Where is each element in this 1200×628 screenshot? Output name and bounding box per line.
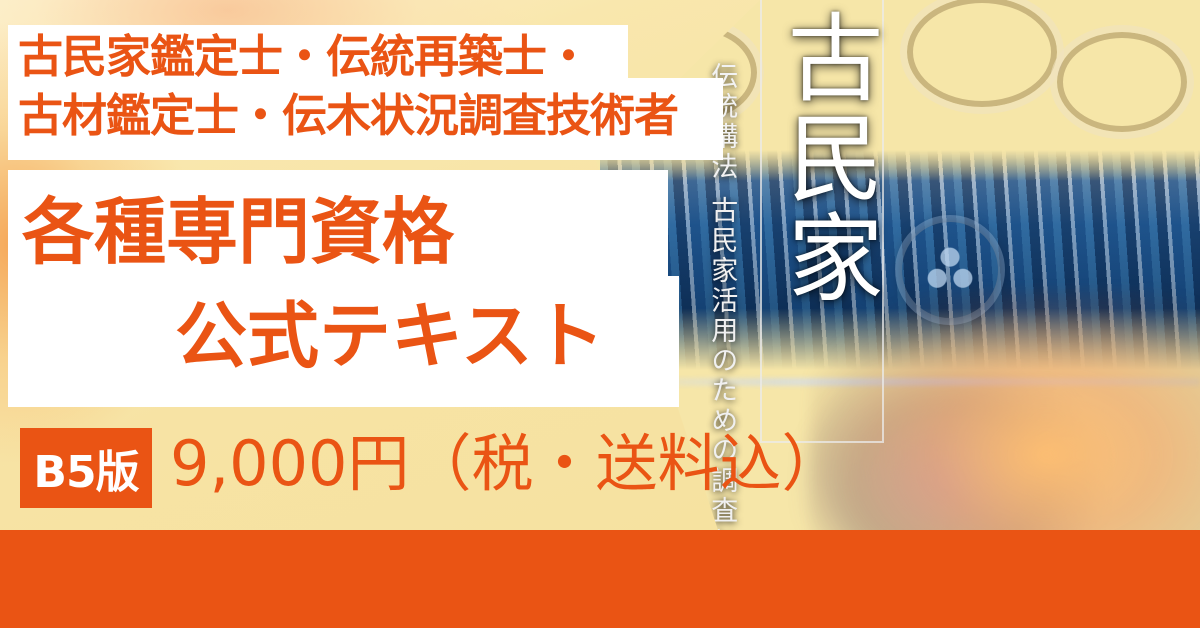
format-badge-b5: B5版 [20, 428, 152, 508]
wood-swirl-icon [1050, 25, 1194, 139]
cta-bar[interactable]: 詳細・ご購入はこちら [0, 530, 1200, 628]
headline-line1: 古民家鑑定士・伝統再築士・ [18, 34, 590, 79]
book-cover-title: 古民家 [760, 8, 880, 308]
main-title-line2: 公式テキスト [175, 300, 605, 372]
promo-banner: 古民家 伝統構法 古民家活用のための調査と再生の 古民家鑑定士・伝統再築士・ 古… [0, 0, 1200, 628]
headline-line2: 古材鑑定士・伝木状況調査技術者 [18, 93, 678, 138]
main-title-line1: 各種専門資格 [22, 196, 454, 268]
price-label: 9,000円（税・送料込） [170, 433, 844, 495]
